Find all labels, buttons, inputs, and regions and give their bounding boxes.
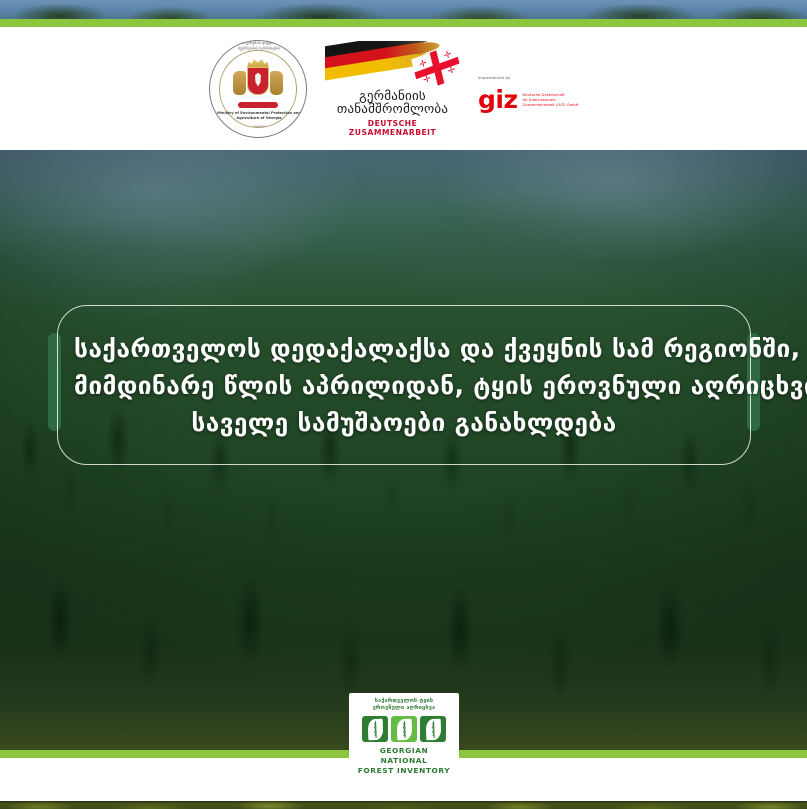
seal-subtitle-en: Georgia: [210, 124, 307, 128]
georgian-national-forest-inventory-logo: საქართველოს ტყის ეროვნული აღრიცხვა GEORG…: [349, 693, 459, 779]
leaf-icon-3: [420, 716, 446, 742]
giz-full-name: Deutsche Gesellschaft für Internationale…: [523, 93, 579, 108]
leaf-shape-2: [396, 719, 412, 741]
leaf-shape-3: [425, 719, 441, 741]
page-title-line-2: მიმდინარე წლის აპრილიდან, ტყის ეროვნული …: [74, 367, 734, 404]
giz-full-name-line3: Zusammenarbeit (GIZ) GmbH: [523, 103, 579, 108]
gnfi-name-en-line1: GEORGIAN NATIONAL: [355, 746, 453, 765]
german-cooperation-name-de: DEUTSCHE ZUSAMMENARBEIT: [325, 119, 460, 137]
header-logo-band: საქართველოს გარემოს დაცვისა და სოფლის მე…: [0, 27, 807, 150]
giz-logo-row: giz Deutsche Gesellschaft für Internatio…: [478, 89, 598, 111]
title-card: საქართველოს დედაქალაქსა და ქვეყნის სამ რ…: [57, 305, 751, 465]
lion-left-icon: [233, 71, 246, 95]
poster-canvas: საქართველოს გარემოს დაცვისა და სოფლის მე…: [0, 0, 807, 809]
seal-ministry-name-en: Ministry of Environmental Protection and…: [210, 111, 307, 120]
ministry-of-environment-seal-icon: საქართველოს გარემოს დაცვისა და სოფლის მე…: [209, 40, 307, 138]
page-title-line-3: საველე სამუშაოები განახლდება: [74, 404, 734, 441]
giz-logo: Implemented by giz Deutsche Gesellschaft…: [478, 66, 598, 111]
german-cooperation-logo: ✛ ✛ ✛ ✛ გერმანიის თანამშრომლობა DEUTSCHE…: [325, 41, 460, 137]
flag-mini-cross-3: ✛: [422, 74, 433, 86]
gnfi-name-ka-line2: ეროვნული აღრიცხვა: [355, 705, 453, 712]
coat-of-arms-icon: [232, 63, 284, 107]
leaf-shape-1: [367, 719, 383, 741]
giz-implemented-by-label: Implemented by: [478, 76, 598, 80]
top-photo-strip: [0, 0, 807, 19]
german-georgian-flag-wave-icon: ✛ ✛ ✛ ✛: [325, 41, 460, 91]
page-title-line-1: საქართველოს დედაქალაქსა და ქვეყნის სამ რ…: [74, 330, 734, 367]
leaf-icon-2: [391, 716, 417, 742]
shield-icon: [247, 67, 269, 95]
gnfi-name-en-line2: FOREST INVENTORY: [355, 766, 453, 776]
giz-wordmark: giz: [478, 89, 518, 111]
lion-right-icon: [270, 71, 283, 95]
german-cooperation-name-ka-line2: თანამშრომლობა: [325, 102, 460, 117]
bottom-photo-strip: [0, 801, 807, 809]
leaf-icon-1: [362, 716, 388, 742]
crest-base: [238, 102, 278, 108]
top-green-rule: [0, 19, 807, 27]
logo-row: საქართველოს გარემოს დაცვისა და სოფლის მე…: [209, 40, 598, 138]
gnfi-leaf-icons: [355, 716, 453, 742]
page-title: საქართველოს დედაქალაქსა და ქვეყნის სამ რ…: [74, 330, 734, 441]
flag-mini-cross-4: ✛: [446, 65, 457, 77]
